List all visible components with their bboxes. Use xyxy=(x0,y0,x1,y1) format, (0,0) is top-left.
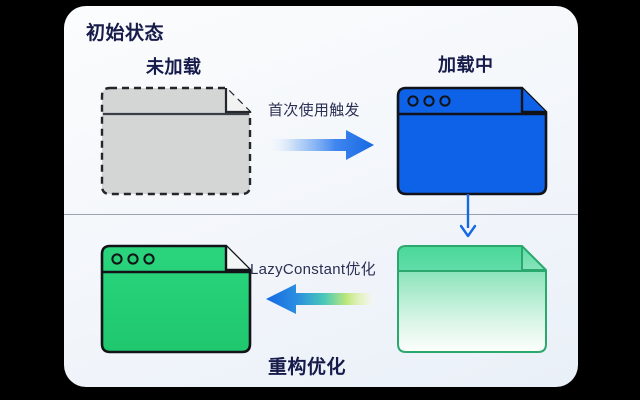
section-title-refactor-optimize: 重构优化 xyxy=(268,358,346,377)
section-title-initial-state: 初始状态 xyxy=(86,24,164,43)
node-label-unloaded: 未加载 xyxy=(146,58,202,76)
traffic-light-dot-icon xyxy=(440,96,449,105)
folded-corner-icon xyxy=(226,246,250,270)
traffic-light-dot-icon xyxy=(424,96,433,105)
window-node-optimized xyxy=(396,244,548,354)
section-divider xyxy=(64,214,578,215)
traffic-light-dot-icon xyxy=(112,254,121,263)
edge-label-first-use-trigger: 首次使用触发 xyxy=(268,103,360,118)
edge-label-lazyconstant-optimize: LazyConstant优化 xyxy=(250,262,376,277)
window-node-loading xyxy=(396,86,548,196)
traffic-light-dot-icon xyxy=(408,96,417,105)
traffic-light-dot-icon xyxy=(144,254,153,263)
traffic-light-dot-icon xyxy=(128,254,137,263)
window-node-unloaded xyxy=(100,86,252,196)
screenshot-root: 初始状态 未加载 加载中 首次使用触发 LazyConstant优化 重构优化 xyxy=(0,0,640,400)
arrow-down-icon xyxy=(457,194,479,238)
diagram-card: 初始状态 未加载 加载中 首次使用触发 LazyConstant优化 重构优化 xyxy=(64,6,578,387)
arrow-right-icon xyxy=(264,128,376,162)
node-label-loading: 加载中 xyxy=(438,56,494,74)
window-node-done xyxy=(100,244,252,354)
arrow-left-icon xyxy=(262,282,378,316)
